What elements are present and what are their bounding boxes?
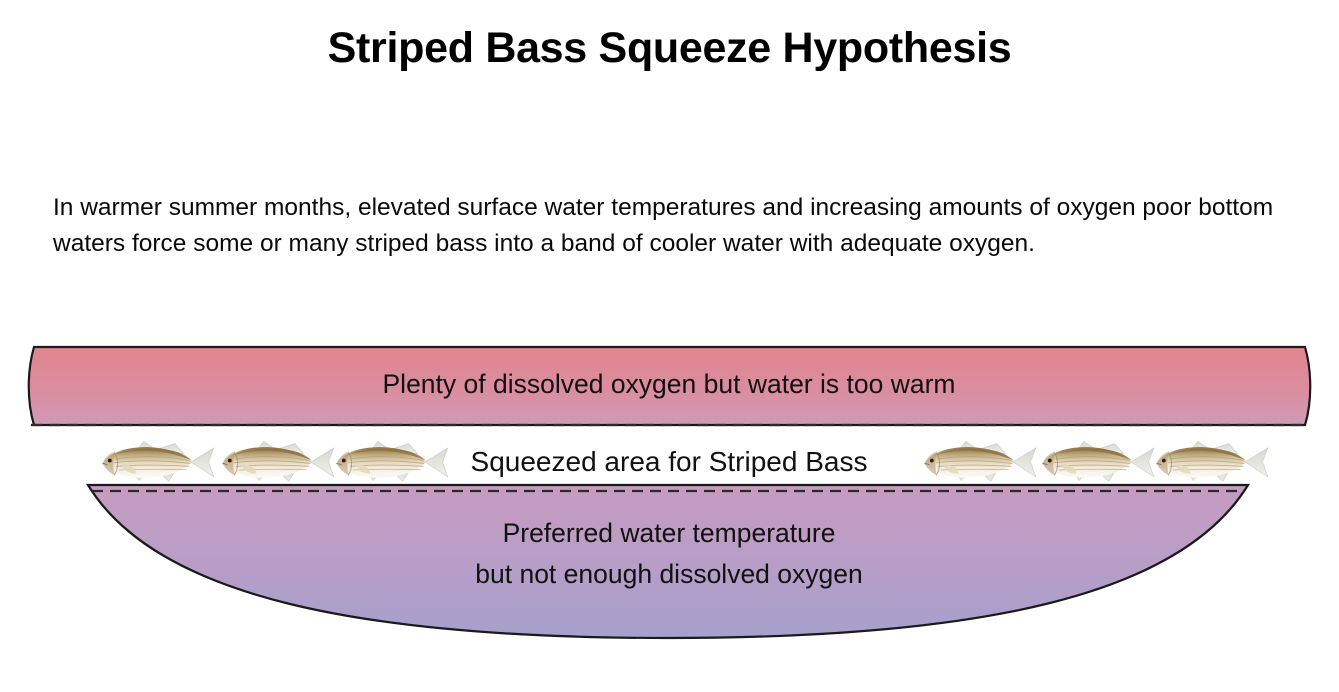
striped-bass-fish-icon — [924, 441, 1035, 481]
squeeze-diagram: Plenty of dissolved oxygen but water is … — [0, 336, 1339, 656]
striped-bass-fish-icon — [336, 441, 447, 481]
middle-band-squeezed-zone: Squeezed area for Striped Bass — [102, 441, 1267, 481]
top-band-label: Plenty of dissolved oxygen but water is … — [383, 369, 956, 399]
bottom-band-label-line-1: Preferred water temperature — [503, 518, 836, 548]
page-title: Striped Bass Squeeze Hypothesis — [0, 24, 1339, 73]
intro-paragraph: In warmer summer months, elevated surfac… — [53, 190, 1291, 262]
bottom-band-low-oxygen: Preferred water temperature but not enou… — [88, 485, 1248, 638]
middle-band-label: Squeezed area for Striped Bass — [471, 446, 868, 477]
striped-bass-fish-icon — [1156, 441, 1267, 481]
bottom-band-label-line-2: but not enough dissolved oxygen — [475, 559, 863, 589]
striped-bass-fish-icon — [222, 441, 333, 481]
striped-bass-fish-icon — [1042, 441, 1153, 481]
fish-group-right — [924, 441, 1267, 481]
top-band-warm-water: Plenty of dissolved oxygen but water is … — [29, 347, 1311, 425]
striped-bass-fish-icon — [102, 441, 213, 481]
fish-group-left — [102, 441, 447, 481]
